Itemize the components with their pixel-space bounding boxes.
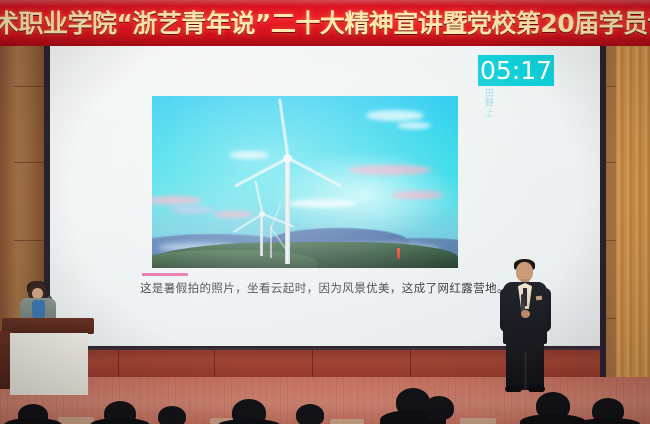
foreground-hill <box>152 250 317 268</box>
cloud <box>391 191 443 199</box>
audience-head <box>296 404 324 424</box>
speaker-shoe <box>505 386 522 392</box>
podium-top <box>2 318 94 334</box>
audience-head <box>158 406 186 424</box>
cloud <box>397 122 431 129</box>
slide-caption: 这是暑假拍的照片，坐看云起时，因为风景优美，这成了网红露营地。 <box>140 281 500 296</box>
audience-shoulders <box>520 414 586 424</box>
cloud <box>366 110 424 121</box>
hiking-pole <box>403 247 404 259</box>
wind-turbine-tower <box>260 214 263 256</box>
cloud <box>348 165 432 175</box>
screenshot-root: 这是暑假拍的照片，坐看云起时，因为风景优美，这成了网红露营地。 05:17 田野… <box>0 0 650 424</box>
speaker-pocket-square <box>536 296 542 301</box>
speaker-shoe <box>528 386 545 392</box>
banner-title: 术职业学院“浙艺青年说”二十大精神宣讲暨党校第20届学员论坛“喜庆二十大浙艺学子… <box>0 10 650 38</box>
stage-curtain <box>616 44 650 384</box>
slide-photo <box>152 96 458 268</box>
seat-back <box>460 418 496 424</box>
moderator-shirt <box>32 300 45 318</box>
cloud <box>152 196 202 205</box>
screen-right-edge <box>600 44 606 384</box>
person-in-red <box>397 248 400 259</box>
audience-head <box>424 396 454 420</box>
speaker-hand <box>521 310 530 318</box>
vertical-title-label: 田野上 <box>481 88 493 118</box>
audience-shoulders <box>218 419 280 424</box>
cloud <box>229 151 269 159</box>
audience-shoulders <box>578 418 640 424</box>
timer-value: 05:17 <box>480 58 552 83</box>
event-banner: 术职业学院“浙艺青年说”二十大精神宣讲暨党校第20届学员论坛“喜庆二十大浙艺学子… <box>0 0 650 46</box>
seat-back <box>330 419 364 424</box>
podium <box>10 333 88 395</box>
countdown-timer: 05:17 <box>478 55 554 86</box>
caption-accent-bar <box>142 273 188 276</box>
seat-back <box>58 417 94 424</box>
